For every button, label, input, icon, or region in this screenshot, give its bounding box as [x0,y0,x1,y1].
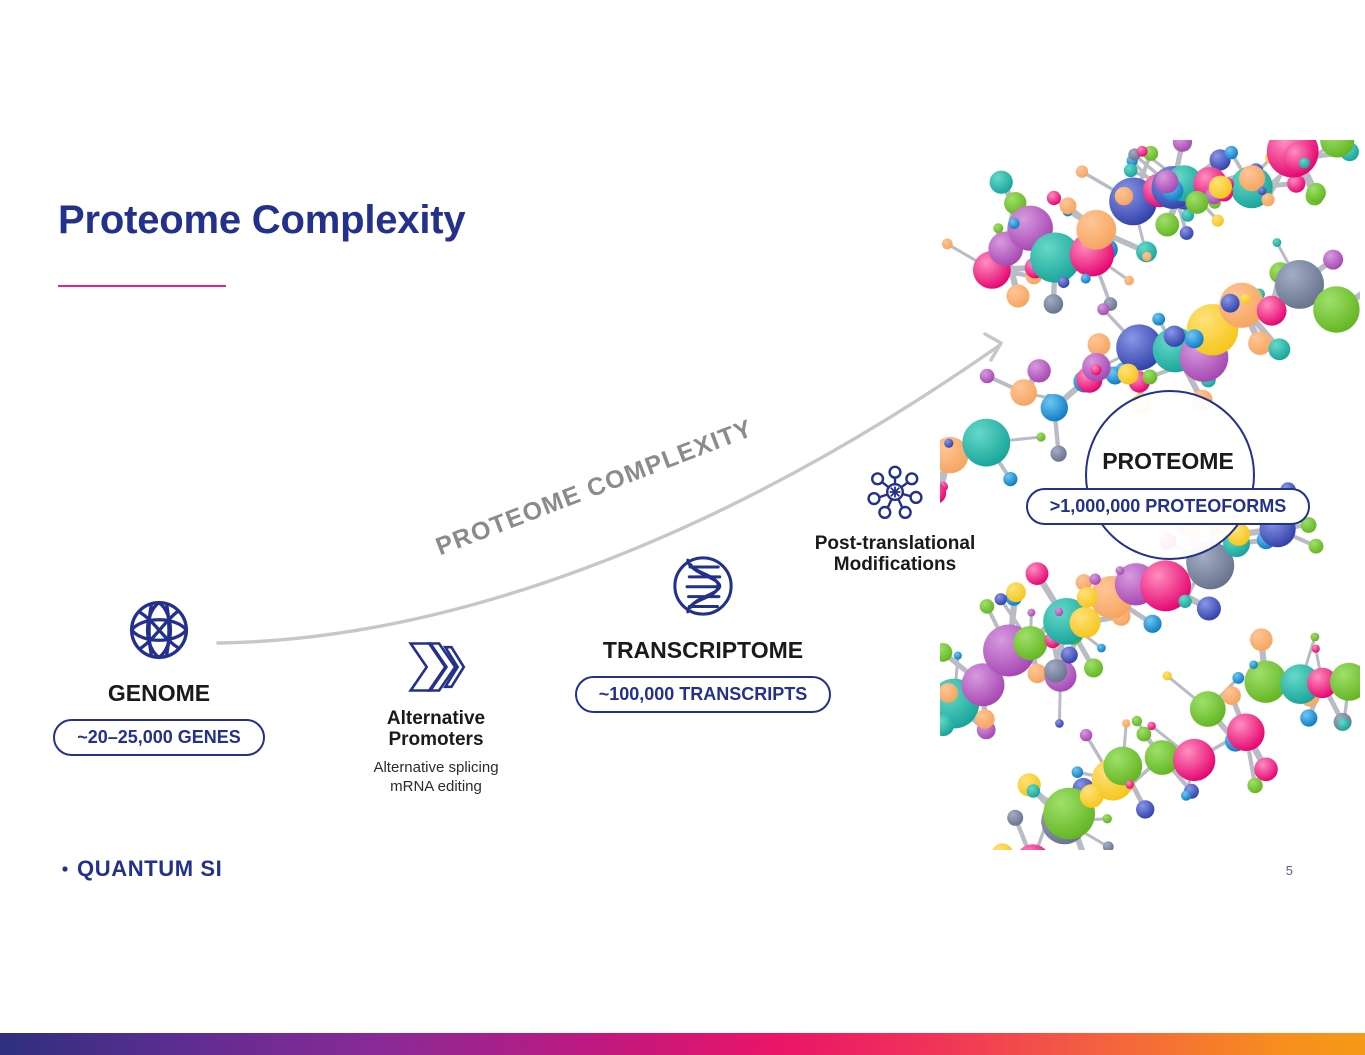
page-number: 5 [1286,863,1293,878]
slide: Proteome Complexity [0,0,1365,1055]
stage-sub-promoters-line1: Alternative splicing [352,758,520,777]
logo-dot-icon [60,858,76,880]
stage-sub-promoters-line2: mRNA editing [352,777,520,796]
molecule-starburst-icon [865,462,925,522]
stage-label-promoters-line2: Promoters [352,729,520,750]
stage-label-proteome: PROTEOME [1063,448,1273,475]
stage-label-ptm-line1: Post-translational [790,533,1000,554]
stage-label-transcriptome: TRANSCRIPTOME [548,638,858,664]
stage-alternative-promoters: Alternative Promoters Alternative splici… [352,636,520,796]
chevrons-right-icon [402,636,470,698]
stage-label-genome: GENOME [34,681,284,707]
stage-label-promoters-line1: Alternative [352,708,520,729]
badge-genes: ~20–25,000 GENES [53,719,265,756]
logo-text: QUANTUM SI [77,856,222,882]
stage-label-ptm-line2: Modifications [790,554,1000,575]
badge-proteoforms: >1,000,000 PROTEOFORMS [1026,488,1311,525]
genome-tangle-icon [121,592,197,668]
badge-transcripts: ~100,000 TRANSCRIPTS [575,676,832,713]
brand-gradient-bar [0,1033,1365,1055]
proteome-circle [1085,390,1255,560]
quantum-si-logo: QUANTUM SI [60,856,222,882]
proteome-badge-wrap: >1,000,000 PROTEOFORMS [948,488,1365,525]
stage-genome: GENOME ~20–25,000 GENES [34,592,284,756]
rna-helix-circle-icon [665,548,741,624]
